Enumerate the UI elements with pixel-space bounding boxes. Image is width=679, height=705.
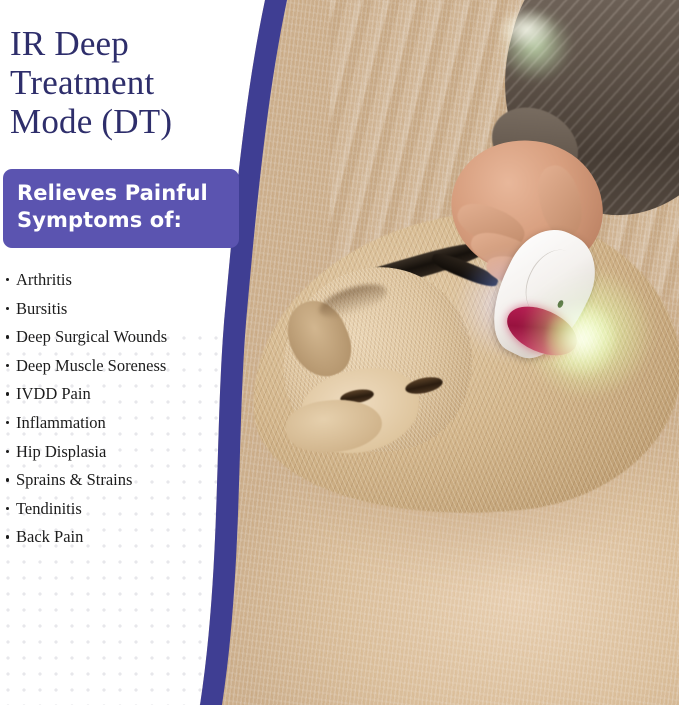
badge-line-1: Relieves Painful	[17, 180, 239, 207]
green-light-core	[546, 300, 616, 380]
symptoms-list: ArthritisBursitisDeep Surgical WoundsDee…	[4, 272, 254, 558]
ir-deep-treatment-poster: IR Deep Treatment Mode (DT) Relieves Pai…	[0, 0, 679, 705]
list-item: Bursitis	[4, 301, 254, 317]
list-item: Tendinitis	[4, 501, 254, 517]
list-item: Deep Muscle Soreness	[4, 358, 254, 374]
list-item: Back Pain	[4, 529, 254, 545]
list-item: Inflammation	[4, 415, 254, 431]
list-item: IVDD Pain	[4, 386, 254, 402]
badge-line-2: Symptoms of:	[17, 207, 239, 234]
list-item: Hip Displasia	[4, 444, 254, 460]
list-item: Deep Surgical Wounds	[4, 329, 254, 345]
list-item: Sprains & Strains	[4, 472, 254, 488]
relieves-symptoms-badge: Relieves Painful Symptoms of:	[3, 169, 239, 248]
list-item: Arthritis	[4, 272, 254, 288]
top-light-flare	[495, 10, 575, 80]
page-title: IR Deep Treatment Mode (DT)	[10, 24, 240, 141]
